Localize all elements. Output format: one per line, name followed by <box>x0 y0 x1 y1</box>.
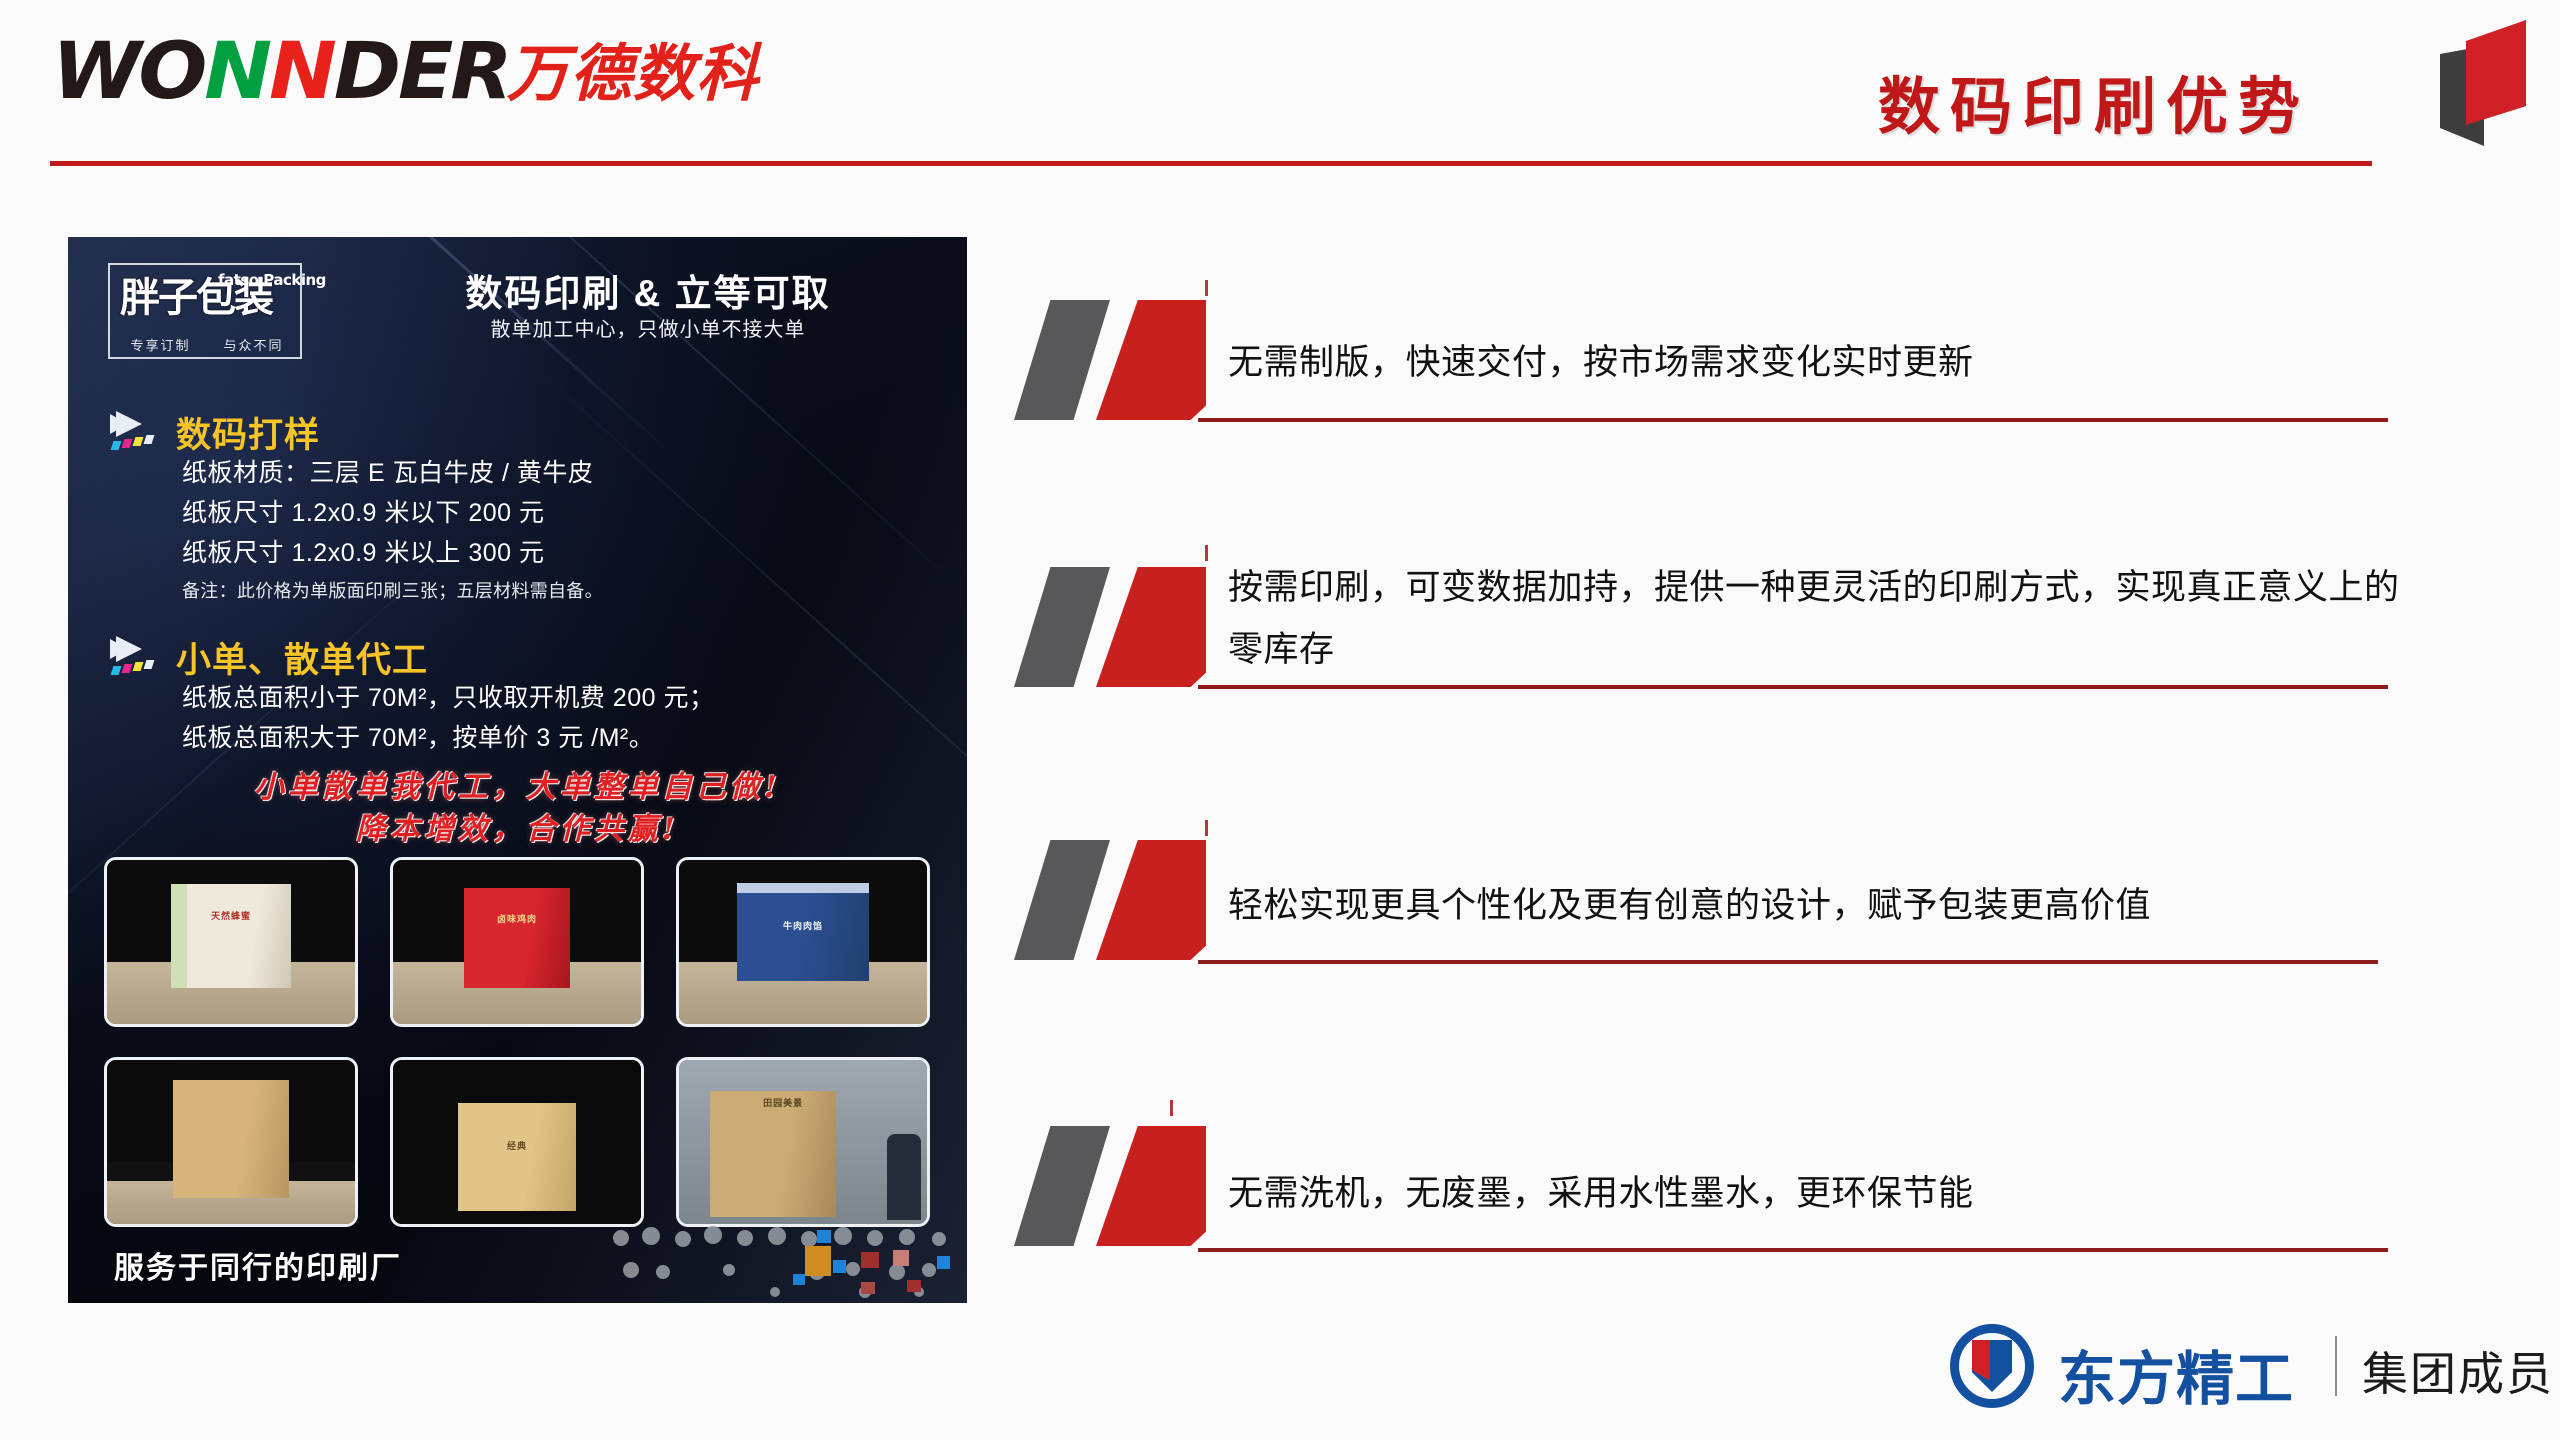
section-line: 纸板材质：三层 E 瓦白牛皮 / 黄牛皮 <box>182 455 593 491</box>
product-photo: 牛肉肉馅 <box>676 857 930 1027</box>
product-photo-grid: 天然蜂蜜 卤味鸡肉 牛肉肉馅 经典 田园美景 <box>104 857 930 1227</box>
section-line: 纸板尺寸 1.2x0.9 米以下 200 元 <box>182 495 545 531</box>
product-photo <box>104 1057 358 1227</box>
chevron-arrow-icon <box>110 636 170 682</box>
advantage-underline <box>1198 685 2388 689</box>
advantage-text: 轻松实现更具个性化及更有创意的设计，赋予包装更高价值 <box>1228 880 2408 932</box>
bullet-marker-red <box>1096 840 1206 960</box>
section-note: 备注：此价格为单版面印刷三张；五层材料需自备。 <box>182 577 603 603</box>
bullet-marker-gray <box>1014 567 1110 687</box>
cmyk-dot-yellow <box>133 437 144 446</box>
product-photo: 经典 <box>390 1057 644 1227</box>
chevron-arrow-large <box>116 411 142 437</box>
halftone-dot-pattern <box>607 1222 967 1302</box>
fatso-tag-right: 与众不同 <box>223 335 283 354</box>
poster-bottom-caption: 服务于同行的印刷厂 <box>114 1243 402 1287</box>
bullet-marker <box>1010 1126 1220 1246</box>
slide-header: WONNDER 万德数科 数码印刷优势 <box>0 0 2560 175</box>
cmyk-dot-cyan <box>111 441 122 450</box>
brand-chinese-text: 万德数科 <box>507 42 759 108</box>
footer-company-name: 东方精工 <box>2058 1332 2294 1416</box>
bullet-marker-red <box>1096 300 1206 420</box>
footer-member-label: 集团成员 <box>2362 1338 2554 1404</box>
advantage-text: 无需制版，快速交付，按市场需求变化实时更新 <box>1228 337 2408 389</box>
fatso-logo-taglines: 专享订制 与众不同 <box>114 335 300 354</box>
photo-caption: 经典 <box>507 1139 527 1152</box>
advantage-underline <box>1198 1248 2388 1252</box>
photo-caption: 田园美景 <box>763 1096 803 1109</box>
product-photo: 天然蜂蜜 <box>104 857 358 1027</box>
footer-company-logo: 东方精工 集团成员 <box>1950 1318 2530 1414</box>
photo-caption: 卤味鸡肉 <box>497 912 537 925</box>
fatso-tag-left: 专享订制 <box>130 335 190 354</box>
classic-certificate-box <box>458 1103 576 1211</box>
cmyk-dots-icon <box>112 439 162 451</box>
poster-subheadline: 散单加工中心，只做小单不接大单 <box>368 313 928 342</box>
product-photo: 卤味鸡肉 <box>390 857 644 1027</box>
poster-slogan-line-1: 小单散单我代工，大单整单自己做! <box>68 762 967 806</box>
fatso-logo-english: fatso Packing <box>218 271 326 289</box>
cmyk-dot-magenta <box>122 439 133 448</box>
chevron-arrow-large <box>116 636 142 662</box>
cmyk-dot-cyan <box>111 666 122 675</box>
red-chicken-gift-box <box>464 888 570 988</box>
bullet-marker-gray <box>1014 840 1110 960</box>
bullet-tick <box>1170 1100 1173 1116</box>
section-title: 小单、散单代工 <box>176 632 428 683</box>
promo-poster-image: 胖子包装 fatso Packing 专享订制 与众不同 数码印刷 & 立等可取… <box>68 237 967 1303</box>
chevron-arrow-icon <box>110 411 170 457</box>
section-line: 纸板总面积小于 70M²，只收取开机费 200 元； <box>182 680 715 716</box>
advantage-underline <box>1198 960 2378 964</box>
bullet-marker <box>1010 840 1220 960</box>
fatso-packing-logo: 胖子包装 fatso Packing 专享订制 与众不同 <box>108 263 302 359</box>
bullet-tick <box>1205 545 1208 561</box>
bullet-tick <box>1205 280 1208 296</box>
section-line: 纸板总面积大于 70M²，按单价 3 元 /M²。 <box>182 720 654 756</box>
cmyk-dot-yellow <box>133 662 144 671</box>
cmyk-dots-icon <box>112 664 162 676</box>
cmyk-dot-key <box>144 660 155 669</box>
header-divider <box>50 161 2372 166</box>
corner-book-icon <box>2440 6 2550 146</box>
brand-latin-post: DER <box>334 27 510 117</box>
beef-carton-box <box>737 883 869 981</box>
photo-caption: 天然蜂蜜 <box>211 909 251 922</box>
honey-gift-box <box>171 884 291 988</box>
page-title: 数码印刷优势 <box>1878 56 2310 146</box>
bullet-tick <box>1205 820 1208 836</box>
landscape-large-carton <box>710 1091 836 1217</box>
photo-caption: 牛肉肉馅 <box>783 919 823 932</box>
product-photo: 田园美景 <box>676 1057 930 1227</box>
person-silhouette <box>887 1134 921 1220</box>
advantage-underline <box>1198 418 2388 422</box>
advantage-text: 无需洗机，无废墨，采用水性墨水，更环保节能 <box>1228 1168 2408 1220</box>
bullet-marker <box>1010 300 1220 420</box>
kraft-handle-bag <box>173 1080 289 1198</box>
corner-book-front-panel <box>2466 20 2526 125</box>
bullet-marker-gray <box>1014 1126 1110 1246</box>
bullet-marker <box>1010 567 1220 687</box>
poster-slogan-line-2: 降本增效，合作共赢! <box>68 804 967 848</box>
brand-latin-n-green: N <box>204 27 269 117</box>
wonder-brand-logo: WONNDER 万德数科 <box>52 36 692 108</box>
advantage-text: 按需印刷，可变数据加持，提供一种更灵活的印刷方式，实现真正意义上的零库存 <box>1228 557 2408 681</box>
bullet-marker-red <box>1096 567 1206 687</box>
brand-latin-pre: WO <box>52 27 204 117</box>
bullet-marker-gray <box>1014 300 1110 420</box>
section-line: 纸板尺寸 1.2x0.9 米以上 300 元 <box>182 535 545 571</box>
brand-latin-text: WONNDER <box>52 36 510 108</box>
cmyk-dot-magenta <box>122 664 133 673</box>
poster-headline: 数码印刷 & 立等可取 <box>368 263 928 317</box>
brand-latin-n-red: N <box>269 27 334 117</box>
bullet-marker-red <box>1096 1126 1206 1246</box>
cmyk-dot-key <box>144 435 155 444</box>
footer-divider <box>2335 1336 2337 1396</box>
section-title: 数码打样 <box>176 407 320 458</box>
